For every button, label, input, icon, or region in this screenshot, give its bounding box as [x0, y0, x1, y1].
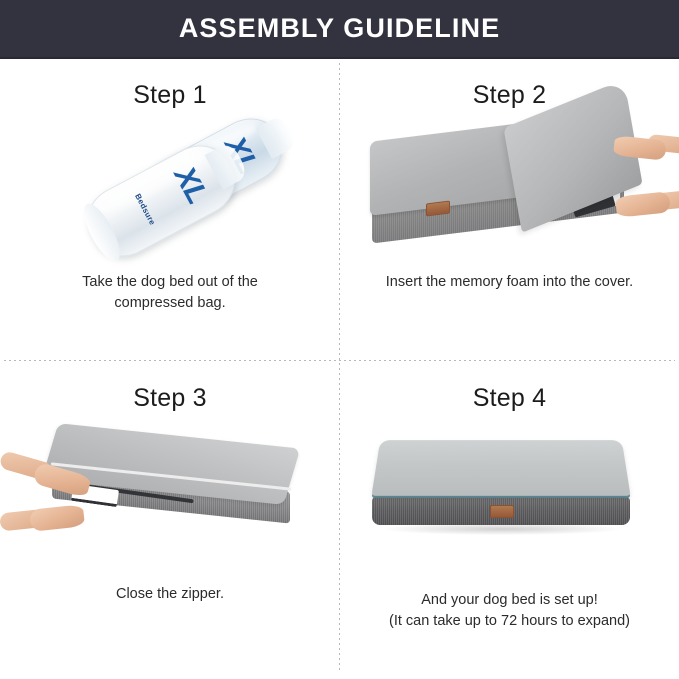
compressed-rolls-graphic: Bedsure XL Bedsure XL — [0, 110, 340, 272]
step-3-caption: Close the zipper. — [20, 584, 320, 605]
step-4-caption-line-1: And your dog bed is set up! — [360, 590, 660, 611]
step-2-cell: Step 2 Insert the memory foam into the c… — [340, 59, 679, 360]
plastic-tail — [256, 114, 299, 159]
leather-brand-tag — [490, 505, 514, 518]
step-3-title: Step 3 — [133, 384, 206, 413]
step-2-caption-line-1: Insert the memory foam into the cover. — [360, 272, 660, 293]
compressed-roll-front-icon: Bedsure XL — [77, 134, 246, 268]
bed-top-surface — [371, 440, 630, 496]
step-2-title: Step 2 — [473, 81, 546, 110]
step-2-caption: Insert the memory foam into the cover. — [360, 272, 660, 293]
step-2-illustration — [340, 110, 679, 272]
step-3-illustration — [0, 413, 340, 584]
step-1-illustration: Bedsure XL Bedsure XL — [0, 110, 340, 272]
step-1-caption-line-2: compressed bag. — [20, 293, 320, 314]
step-4-illustration — [340, 413, 679, 590]
step-4-caption-line-2: (It can take up to 72 hours to expand) — [360, 611, 660, 632]
lower-hand-icon — [29, 504, 85, 532]
page-title: ASSEMBLY GUIDELINE — [179, 13, 500, 44]
brand-label-front: Bedsure — [133, 192, 157, 226]
horizontal-divider — [4, 360, 675, 361]
zipper-closing-graphic — [0, 413, 340, 584]
steps-grid: Step 1 Bedsure XL Bedsure XL — [0, 59, 679, 677]
step-4-title: Step 4 — [473, 384, 546, 413]
step-4-cell: Step 4 And your dog bed is set up! (It c… — [340, 362, 679, 677]
step-1-caption: Take the dog bed out of the compressed b… — [20, 272, 320, 314]
step-1-cell: Step 1 Bedsure XL Bedsure XL — [0, 59, 340, 360]
page-header: ASSEMBLY GUIDELINE — [0, 0, 679, 59]
finished-bed-graphic — [340, 413, 679, 590]
step-1-title: Step 1 — [133, 81, 206, 110]
bed-cover-insert-graphic — [340, 110, 679, 272]
step-4-caption: And your dog bed is set up! (It can take… — [360, 590, 660, 632]
step-3-cell: Step 3 Close the zipper. — [0, 362, 340, 677]
step-3-caption-line-1: Close the zipper. — [20, 584, 320, 605]
step-1-caption-line-1: Take the dog bed out of the — [20, 272, 320, 293]
